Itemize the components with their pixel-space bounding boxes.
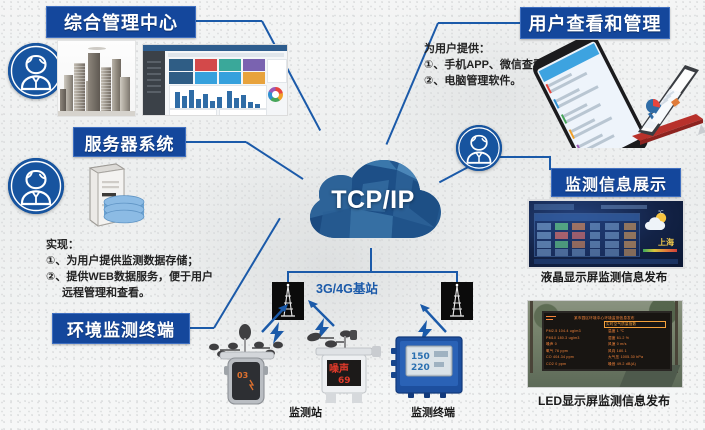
svg-text:220: 220 (411, 363, 430, 373)
monitoring-terminal-device: 150 220 (390, 334, 470, 400)
banner-env-terminal[interactable]: 环境监测终端 (52, 313, 190, 344)
led-row: 风向 180.1 (608, 349, 627, 354)
led-row: 温度 1 ℃ (608, 329, 624, 334)
left-text-heading: 实现： (46, 237, 213, 253)
svg-text:03: 03 (237, 371, 248, 380)
caption-led: LED显示屏监测信息发布 (527, 392, 681, 409)
left-description-block: 实现： ①、为用户提供监测数据存储； ②、提供WEB数据服务，便于用户 远程管理… (46, 237, 213, 301)
monitoring-station-svg: 03 (200, 320, 310, 410)
connector-server-h (184, 141, 246, 143)
led-board-panel: 某市园区环境中心环境监测信息发布 实时空气质量指数 PM2.5 104.4 ug… (542, 311, 672, 371)
person-badge-svg-2 (8, 158, 64, 214)
led-row: 大气压 1005.30 hPa (608, 355, 643, 360)
person-badge-svg (8, 43, 64, 99)
connector-user-h (438, 22, 520, 24)
lcd-city-label: 上海 (658, 237, 674, 248)
server-icon (76, 160, 146, 232)
noise-display-svg: 噪声 69 (296, 322, 401, 410)
antenna-ring (88, 47, 106, 50)
svg-text:69: 69 (338, 376, 351, 386)
led-row: PM2.5 104.4 ug/m3 (546, 329, 581, 334)
led-row: 噪音 49.2 dB(A) (608, 362, 636, 367)
devices-svg (520, 40, 705, 148)
arrow-to-tower-right (412, 300, 452, 336)
diagram-canvas: 综合管理中心 服务器系统 环境监测终端 用户查看和管理 监测信息展示 (0, 0, 705, 430)
led-row: 噪声 0 (546, 342, 557, 347)
bi-dashboard-screenshot (142, 44, 288, 116)
dashboard-bar-chart (169, 85, 267, 109)
monitoring-station-device: 03 (200, 320, 310, 410)
connector-basestation-left-v (287, 271, 289, 282)
person-badge-icon-top-left (8, 43, 64, 99)
cloud-label: TCP/IP (293, 150, 453, 250)
led-row: CO2 0 ppm (546, 362, 566, 367)
banner-user-view-manage[interactable]: 用户查看和管理 (520, 7, 670, 39)
left-text-item2: ②、提供WEB数据服务，便于用户 (46, 269, 213, 285)
svg-text:噪声: 噪声 (329, 362, 349, 375)
led-row: 氧气 76 ppm (546, 349, 568, 354)
caption-lcd: 液晶显示屏监测信息发布 (527, 269, 681, 285)
monitoring-terminal-svg: 150 220 (390, 334, 470, 400)
lcd-temp-unit: ℃ (658, 210, 664, 216)
person-badge-icon-right (456, 125, 502, 171)
banner-server-system[interactable]: 服务器系统 (73, 127, 186, 157)
connector-cloud-down (370, 248, 372, 272)
left-text-item1: ①、为用户提供监测数据存储； (46, 253, 213, 269)
lcd-aqi-bar (643, 249, 677, 252)
led-row: 湿度 61.2 % (608, 336, 629, 341)
led-title: 某市园区环境中心环境监测信息发布 (574, 316, 635, 321)
left-text-item2-cont: 远程管理和查看。 (46, 285, 213, 301)
dashboard-donut-chart (268, 87, 283, 102)
mobile-and-tablet-devices (520, 40, 705, 148)
noise-display-station: 噪声 69 (296, 322, 401, 410)
lcd-data-table (534, 213, 640, 257)
person-badge-icon-middle-left (8, 158, 64, 214)
connector-management-center-h (194, 20, 262, 22)
connector-basestation-bus (287, 271, 457, 273)
label-monitoring-terminal: 监测终端 (411, 404, 455, 420)
led-row: PM10 180.3 ug/m3 (546, 336, 580, 341)
connector-basestation-right-v (456, 271, 458, 282)
server-svg (76, 160, 146, 232)
lcd-monitor-screen: ℃ 上海 (527, 199, 685, 269)
person-badge-svg-3 (456, 125, 502, 171)
led-display-photo: 某市园区环境中心环境监测信息发布 实时空气质量指数 PM2.5 104.4 ug… (527, 300, 683, 388)
tablet-icon (632, 65, 705, 145)
banner-management-center[interactable]: 综合管理中心 (46, 6, 196, 38)
base-station-label: 3G/4G基站 (316, 278, 378, 297)
led-row: 风速 0 m/s (608, 342, 627, 347)
banner-monitor-display[interactable]: 监测信息展示 (551, 168, 681, 197)
led-row: CO 404.34 ppm (546, 355, 574, 360)
dashboard-area-chart (267, 59, 287, 83)
smartphone-icon (529, 40, 651, 148)
city-buildings-image (57, 40, 136, 117)
svg-text:150: 150 (411, 352, 430, 362)
